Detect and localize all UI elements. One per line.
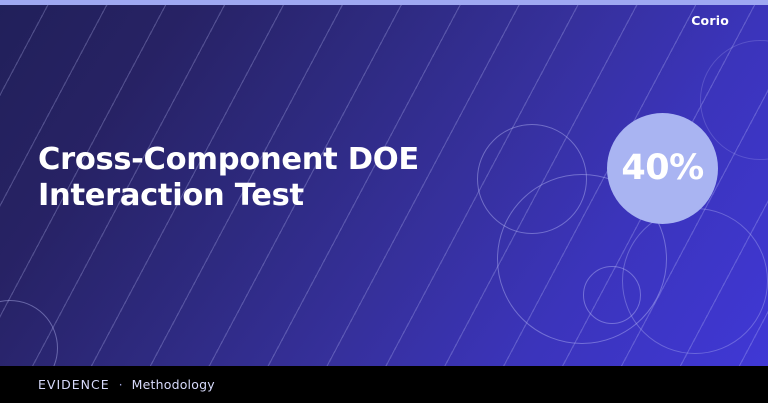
- percentage-badge: 40%: [607, 113, 718, 224]
- footer-kicker: EVIDENCE: [38, 377, 110, 392]
- footer-label: Methodology: [132, 377, 215, 392]
- circle-outline-icon: [622, 208, 768, 354]
- footer-separator: ·: [119, 377, 123, 392]
- page-title: Cross-Component DOE Interaction Test: [38, 142, 568, 214]
- footer-bar: EVIDENCE · Methodology: [0, 366, 768, 403]
- top-accent-strip: [0, 0, 768, 5]
- percentage-badge-value: 40%: [621, 151, 703, 186]
- circle-outline-icon: [583, 266, 641, 324]
- brand-wordmark: Corio: [691, 13, 729, 28]
- title-slide: Corio Cross-Component DOE Interaction Te…: [0, 0, 768, 403]
